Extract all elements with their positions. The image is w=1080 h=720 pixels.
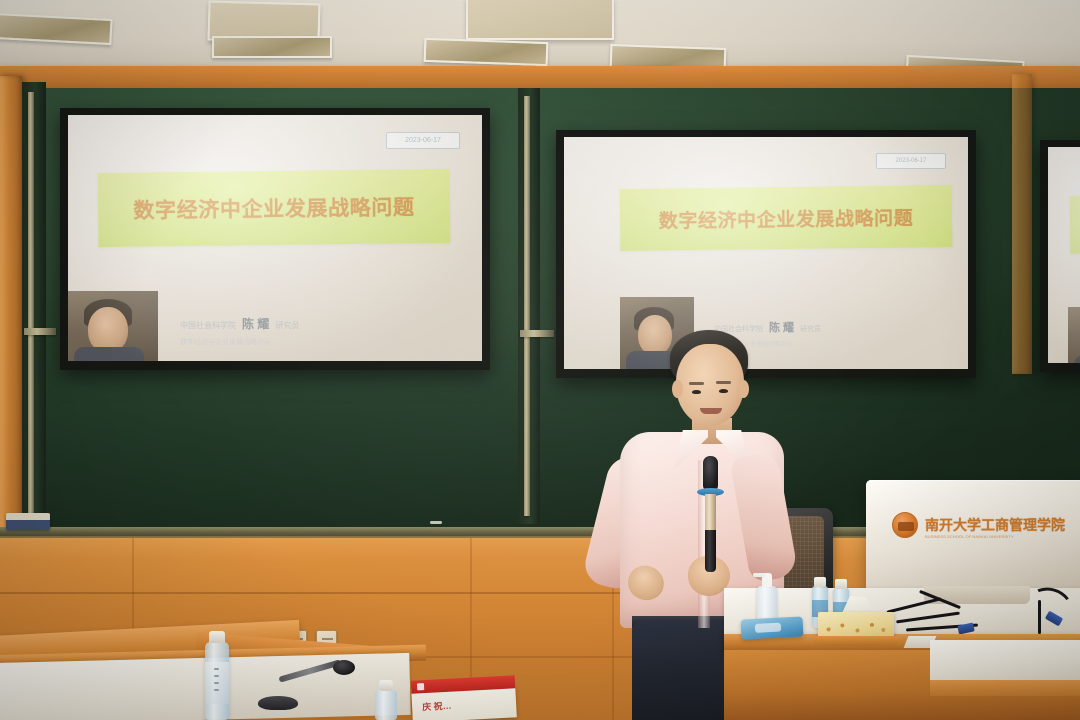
slide-subline: 数字经济与企业发展战略论坛 <box>180 337 271 347</box>
bottle-label <box>205 662 229 704</box>
slide-byline-suffix: 研究员 <box>275 320 299 331</box>
side-desk-edge <box>930 680 1080 696</box>
microphone-head <box>703 456 718 490</box>
presenter-mouth <box>700 408 722 414</box>
school-logo-en: BUSINESS SCHOOL OF NANKAI UNIVERSITY <box>925 534 1014 539</box>
presenter-eye <box>692 390 701 394</box>
slide-portrait-photo <box>1068 307 1080 363</box>
presenter-eyebrow <box>716 381 731 384</box>
school-logo-cn: 南开大学工商管理学院 <box>925 515 1065 535</box>
slide-title: 数字经济中企业发展战略问题 <box>659 203 914 233</box>
presenter-ear <box>738 380 749 398</box>
slide-title-band: 数字 <box>1070 194 1080 254</box>
wall-post-right <box>1012 74 1032 374</box>
screen-rail-cross <box>520 330 554 337</box>
presenter-eye <box>719 389 728 393</box>
side-desk-top <box>930 640 1080 684</box>
microphone-handle <box>705 530 716 572</box>
presenter-ear <box>672 380 683 398</box>
bottle-cap <box>209 631 225 643</box>
chalk-eraser <box>6 513 50 530</box>
slide-title-band: 数字经济中企业发展战略问题 <box>620 185 953 251</box>
gooseneck-microphone-head <box>333 660 355 675</box>
chalk-piece <box>430 521 442 524</box>
bottle-cap <box>835 579 847 589</box>
water-bottle-small[interactable] <box>375 690 397 720</box>
projection-screen-right: 数字 <box>1040 140 1080 372</box>
slide-byline: 中国社会科学院 陈 耀 研究员 <box>180 315 299 332</box>
screen-rail <box>28 92 34 518</box>
presenter-eyebrow <box>689 382 704 385</box>
wipes-flap <box>755 623 781 633</box>
ceiling-light-fixture <box>466 0 614 40</box>
slide-byline-name: 陈 耀 <box>242 315 269 332</box>
tissue-box-tray <box>814 636 898 644</box>
name-card-text: 庆 祝… <box>422 699 452 714</box>
screen-rail-cross <box>24 328 56 335</box>
air-vent <box>212 36 332 58</box>
wall-post-left <box>0 76 22 546</box>
sanitizer-nozzle <box>753 573 765 577</box>
screen-rail <box>524 96 530 516</box>
slide-title-band: 数字经济中企业发展战略问题 <box>98 169 451 247</box>
slide-byline-prefix: 中国社会科学院 <box>180 320 236 331</box>
name-card: 庆 祝… <box>411 683 517 720</box>
bottle-cap <box>379 680 393 691</box>
air-vent <box>424 38 549 66</box>
bottle-cap <box>814 577 826 587</box>
wet-wipes-pack[interactable] <box>741 616 804 639</box>
handheld-microphone[interactable] <box>702 456 719 572</box>
slide-portrait-photo <box>68 291 158 361</box>
school-seal-icon <box>892 512 918 538</box>
screen-frame-post <box>22 82 46 532</box>
projection-screen-left: 2023-06-17 数字经济中企业发展战略问题 中国社会科学院 陈 耀 研究员… <box>60 108 490 370</box>
slide-byline-suffix: 研究员 <box>800 324 821 334</box>
slide-title: 数字经济中企业发展战略问题 <box>133 191 415 224</box>
water-bottle-tall[interactable] <box>205 642 229 720</box>
microphone-base <box>258 696 298 710</box>
microphone-body <box>705 494 716 532</box>
slide-badge: 2023-06-17 <box>386 132 460 149</box>
lecture-hall-photo: 2023-06-17 数字经济中企业发展战略问题 中国社会科学院 陈 耀 研究员… <box>0 0 1080 720</box>
slide-badge: 2023-06-17 <box>876 153 946 169</box>
